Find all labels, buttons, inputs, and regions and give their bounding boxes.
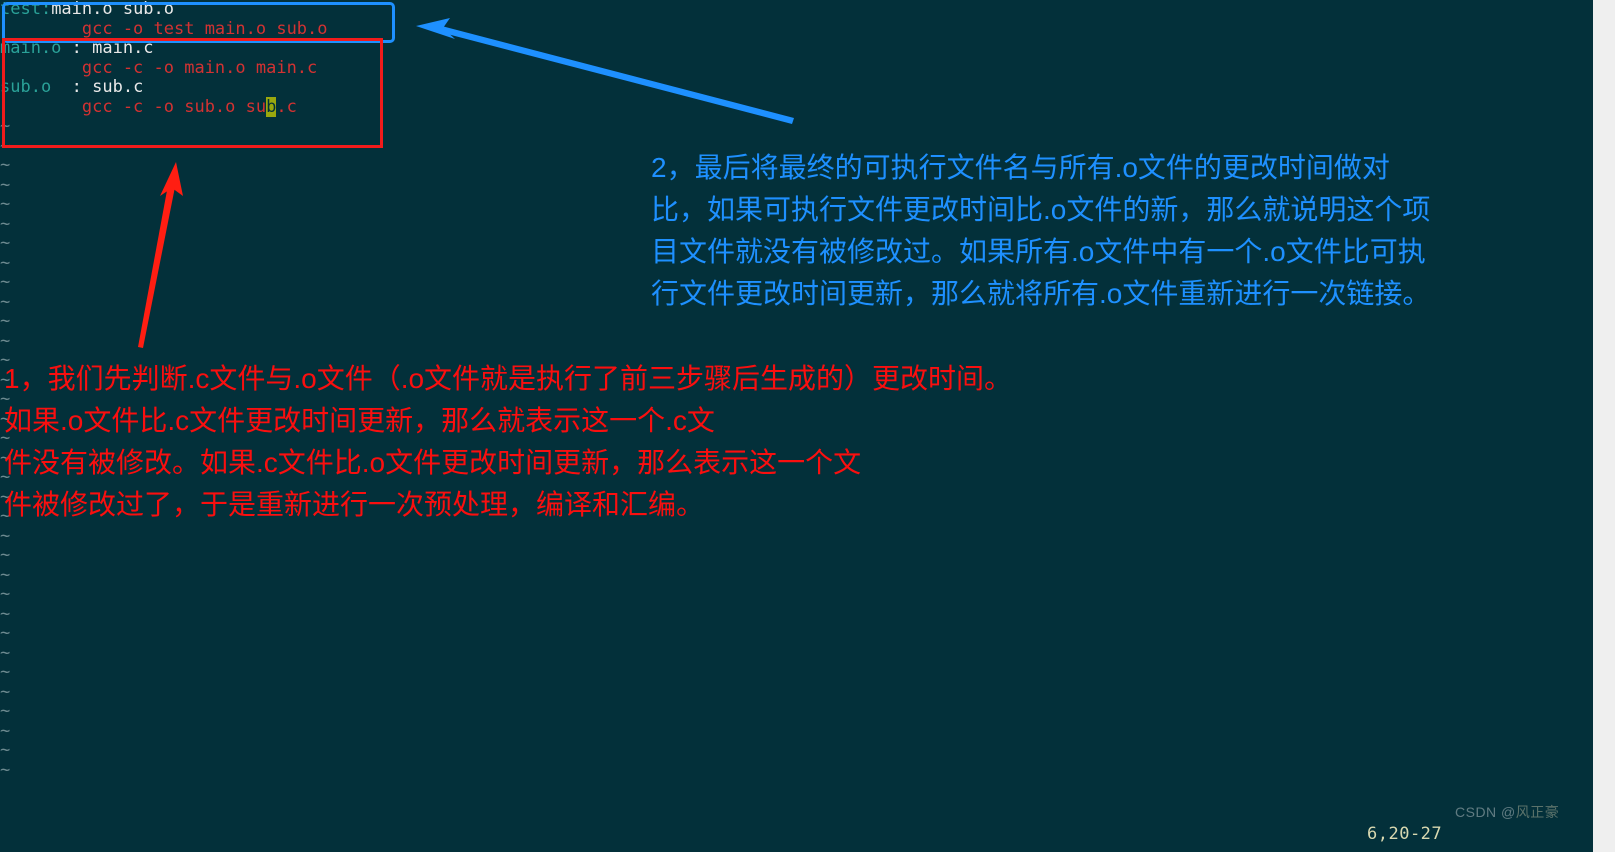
tilde-marker: ~ bbox=[0, 292, 10, 312]
makefile-target: test: bbox=[0, 0, 51, 19]
buffer-empty-line: ~ bbox=[0, 702, 1593, 722]
buffer-line[interactable]: gcc -o test main.o sub.o bbox=[0, 20, 1593, 40]
tilde-marker: ~ bbox=[0, 604, 10, 624]
buffer-empty-line: ~ bbox=[0, 644, 1593, 664]
vim-status-line: 6,20-27 bbox=[0, 824, 1593, 848]
buffer-empty-line: ~ bbox=[0, 527, 1593, 547]
tilde-marker: ~ bbox=[0, 565, 10, 585]
csdn-watermark: CSDN @风正豪 bbox=[1455, 802, 1559, 822]
tilde-marker: ~ bbox=[0, 662, 10, 682]
tilde-marker: ~ bbox=[0, 584, 10, 604]
buffer-line[interactable]: sub.o : sub.c bbox=[0, 78, 1593, 98]
buffer-empty-line: ~ bbox=[0, 546, 1593, 566]
tilde-marker: ~ bbox=[0, 721, 10, 741]
makefile-target: sub.o bbox=[0, 77, 72, 97]
tilde-marker: ~ bbox=[0, 311, 10, 331]
buffer-empty-line: ~ bbox=[0, 663, 1593, 683]
tilde-marker: ~ bbox=[0, 526, 10, 546]
makefile-command: gcc -o test main.o sub.o bbox=[0, 19, 328, 39]
vertical-scrollbar-track[interactable] bbox=[1593, 0, 1615, 852]
annotation-text-step1: 1，我们先判断.c文件与.o文件（.o文件就是执行了前三步骤后生成的）更改时间。… bbox=[4, 358, 1044, 526]
tilde-marker: ~ bbox=[0, 331, 10, 351]
buffer-empty-line: ~ bbox=[0, 624, 1593, 644]
cursor-position-indicator: 6,20-27 bbox=[1367, 824, 1442, 844]
screenshot-root: test:main.o sub.o gcc -o test main.o sub… bbox=[0, 0, 1615, 852]
buffer-empty-line: ~ bbox=[0, 741, 1593, 761]
buffer-line[interactable]: test:main.o sub.o bbox=[0, 0, 1593, 20]
makefile-dependency: : main.c bbox=[72, 38, 154, 58]
makefile-command: gcc -c -o sub.o su bbox=[0, 97, 266, 117]
buffer-empty-line: ~ bbox=[0, 605, 1593, 625]
tilde-marker: ~ bbox=[0, 623, 10, 643]
makefile-dependency: : sub.c bbox=[72, 77, 144, 97]
buffer-empty-line: ~ bbox=[0, 722, 1593, 742]
tilde-marker: ~ bbox=[0, 253, 10, 273]
buffer-empty-line: ~ bbox=[0, 683, 1593, 703]
tilde-marker: ~ bbox=[0, 214, 10, 234]
makefile-command: gcc -c -o main.o main.c bbox=[0, 58, 317, 78]
tilde-marker: ~ bbox=[0, 682, 10, 702]
buffer-empty-line: ~ bbox=[0, 585, 1593, 605]
tilde-marker: ~ bbox=[0, 701, 10, 721]
tilde-marker: ~ bbox=[0, 545, 10, 565]
watermark-name: 风正豪 bbox=[1516, 804, 1560, 820]
buffer-line[interactable]: main.o : main.c bbox=[0, 39, 1593, 59]
tilde-marker: ~ bbox=[0, 194, 10, 214]
tilde-marker: ~ bbox=[0, 136, 10, 156]
tilde-marker: ~ bbox=[0, 233, 10, 253]
buffer-empty-line: ~ bbox=[0, 761, 1593, 781]
makefile-dependency: main.o sub.o bbox=[51, 0, 174, 19]
buffer-line[interactable]: gcc -c -o sub.o sub.c bbox=[0, 98, 1593, 118]
tilde-marker: ~ bbox=[0, 760, 10, 780]
tilde-marker: ~ bbox=[0, 643, 10, 663]
buffer-empty-line: ~ bbox=[0, 566, 1593, 586]
watermark-prefix: CSDN @ bbox=[1455, 804, 1516, 820]
tilde-marker: ~ bbox=[0, 116, 10, 136]
makefile-command-tail: .c bbox=[276, 97, 296, 117]
tilde-marker: ~ bbox=[0, 155, 10, 175]
buffer-empty-line: ~ bbox=[0, 117, 1593, 137]
tilde-marker: ~ bbox=[0, 272, 10, 292]
tilde-marker: ~ bbox=[0, 175, 10, 195]
tilde-marker: ~ bbox=[0, 740, 10, 760]
buffer-line[interactable]: gcc -c -o main.o main.c bbox=[0, 59, 1593, 79]
makefile-target: main.o bbox=[0, 38, 72, 58]
text-cursor: b bbox=[266, 97, 276, 117]
buffer-empty-line: ~ bbox=[0, 332, 1593, 352]
annotation-text-step2: 2，最后将最终的可执行文件名与所有.o文件的更改时间做对比，如果可执行文件更改时… bbox=[651, 147, 1441, 315]
